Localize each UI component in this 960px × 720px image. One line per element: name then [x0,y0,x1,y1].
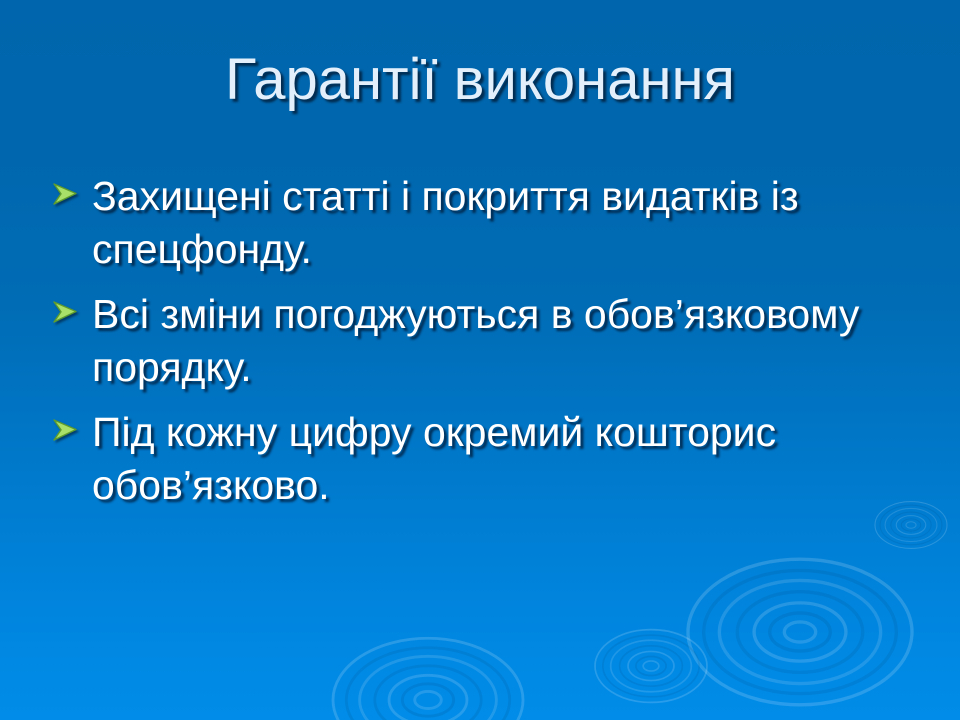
ripple-large [688,559,912,705]
slide-canvas: Гарантії виконання Захищені статті і пок… [0,0,960,720]
green-arrow-bullet-icon [52,170,92,206]
list-item: Захищені статті і покриття видатків із с… [52,170,932,276]
ripple-medium [595,630,707,703]
list-item: Під кожну цифру окремий кошторис обов’яз… [52,406,932,512]
slide-title: Гарантії виконання [0,48,960,112]
list-item: Всі зміни погоджуються в обов’язковому п… [52,288,932,394]
green-arrow-bullet-icon [52,288,92,324]
list-item-text: Захищені статті і покриття видатків із с… [92,170,922,276]
list-item-text: Під кожну цифру окремий кошторис обов’яз… [92,406,922,512]
ripple-bottom-edge [333,638,523,720]
list-item-text: Всі зміни погоджуються в обов’язковому п… [92,288,922,394]
green-arrow-bullet-icon [52,406,92,442]
bullet-list: Захищені статті і покриття видатків із с… [52,170,932,524]
